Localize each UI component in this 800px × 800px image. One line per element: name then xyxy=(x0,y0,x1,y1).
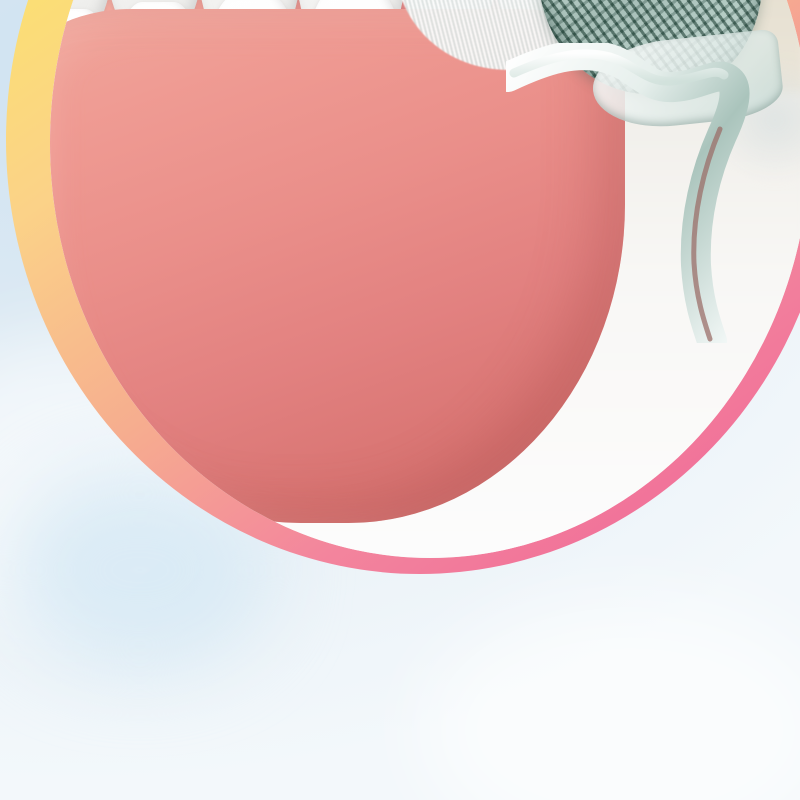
ambient-glow-bottom-right xyxy=(420,600,800,800)
hero-photo xyxy=(50,0,800,558)
hero-photo-circle xyxy=(50,0,800,558)
text-content: Stronger cleaning power Scientific verti… xyxy=(0,774,800,800)
promo-poster: Stronger cleaning power Scientific verti… xyxy=(0,0,800,800)
brush-handle xyxy=(506,43,766,343)
